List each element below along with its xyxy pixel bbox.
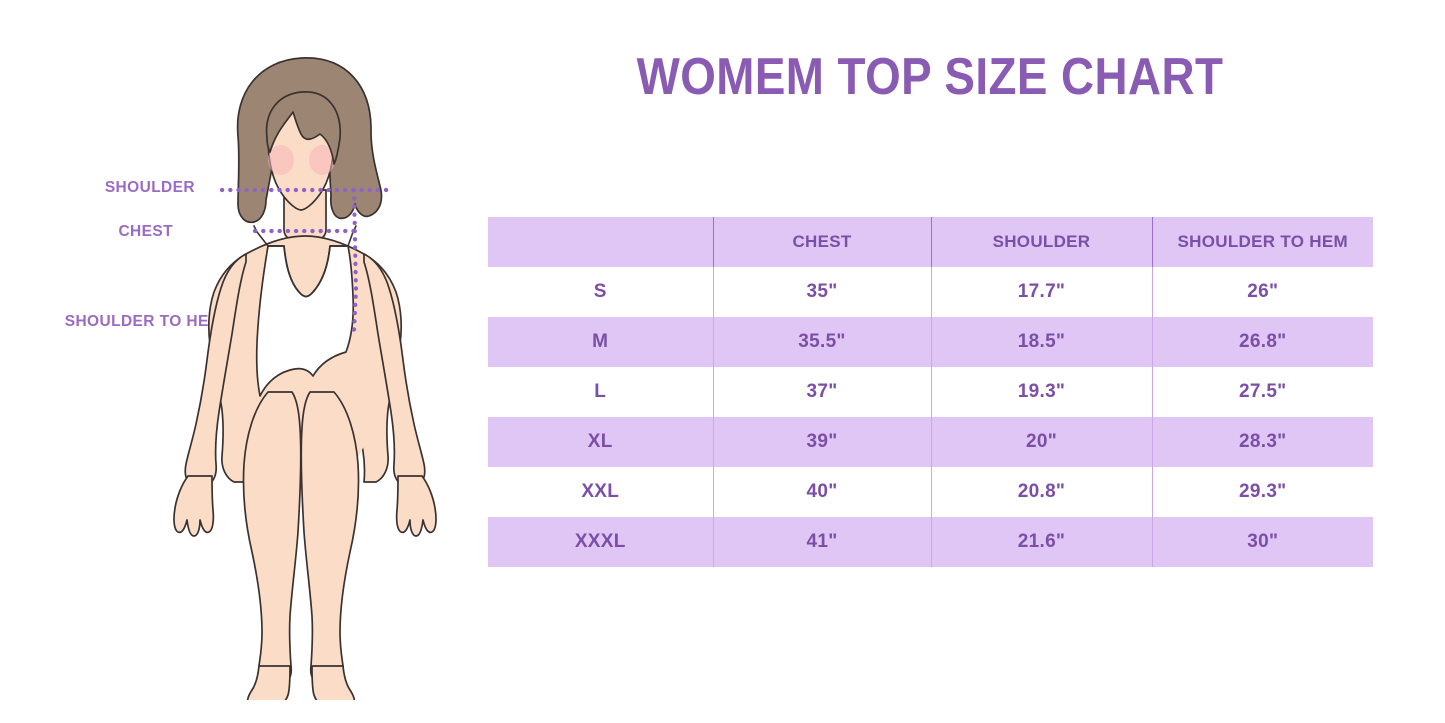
cell-shoulder-to-hem: 29.3" xyxy=(1152,467,1373,517)
cell-shoulder: 19.3" xyxy=(931,367,1152,417)
cell-size: XXXL xyxy=(488,517,713,567)
cell-size: M xyxy=(488,317,713,367)
table-header-chest: CHEST xyxy=(713,217,931,267)
cell-chest: 35.5" xyxy=(713,317,931,367)
left-foot-shape xyxy=(248,666,290,700)
cell-shoulder: 21.6" xyxy=(931,517,1152,567)
table-row: S 35" 17.7" 26" xyxy=(488,267,1373,317)
cell-shoulder-to-hem: 27.5" xyxy=(1152,367,1373,417)
cell-chest: 40" xyxy=(713,467,931,517)
female-figure-illustration xyxy=(150,40,460,700)
right-leg-shape xyxy=(301,392,358,682)
cell-size: XL xyxy=(488,417,713,467)
cell-shoulder-to-hem: 26" xyxy=(1152,267,1373,317)
table-row: XL 39" 20" 28.3" xyxy=(488,417,1373,467)
table-header-row: CHEST SHOULDER SHOULDER TO HEM xyxy=(488,217,1373,267)
cell-shoulder: 18.5" xyxy=(931,317,1152,367)
size-chart-table: CHEST SHOULDER SHOULDER TO HEM S 35" 17.… xyxy=(488,217,1373,567)
cell-shoulder: 20" xyxy=(931,417,1152,467)
cell-chest: 37" xyxy=(713,367,931,417)
left-leg-shape xyxy=(243,392,300,682)
measurement-label-chest: CHEST xyxy=(0,223,173,241)
cell-shoulder-to-hem: 28.3" xyxy=(1152,417,1373,467)
left-hand-shape xyxy=(174,476,213,536)
table-body: CHEST SHOULDER SHOULDER TO HEM S 35" 17.… xyxy=(488,217,1373,567)
size-chart-page: WOMEM TOP SIZE CHART SHOULDER CHEST SHOU… xyxy=(0,0,1445,723)
cell-chest: 39" xyxy=(713,417,931,467)
table-header-shoulder-to-hem: SHOULDER TO HEM xyxy=(1152,217,1373,267)
table-row: XXXL 41" 21.6" 30" xyxy=(488,517,1373,567)
cell-shoulder: 20.8" xyxy=(931,467,1152,517)
cell-size: XXL xyxy=(488,467,713,517)
right-hand-shape xyxy=(397,476,436,536)
cell-shoulder-to-hem: 30" xyxy=(1152,517,1373,567)
cell-size: L xyxy=(488,367,713,417)
cell-size: S xyxy=(488,267,713,317)
table-row: M 35.5" 18.5" 26.8" xyxy=(488,317,1373,367)
cell-shoulder-to-hem: 26.8" xyxy=(1152,317,1373,367)
table-header-shoulder: SHOULDER xyxy=(931,217,1152,267)
right-foot-shape xyxy=(312,666,354,700)
cell-chest: 35" xyxy=(713,267,931,317)
right-strap-shape xyxy=(348,232,353,246)
table-row: L 37" 19.3" 27.5" xyxy=(488,367,1373,417)
table-header-corner xyxy=(488,217,713,267)
table-row: XXL 40" 20.8" 29.3" xyxy=(488,467,1373,517)
left-strap-shape xyxy=(257,232,268,246)
cell-chest: 41" xyxy=(713,517,931,567)
blush-left xyxy=(268,145,294,175)
cell-shoulder: 17.7" xyxy=(931,267,1152,317)
page-title: WOMEM TOP SIZE CHART xyxy=(525,50,1335,105)
